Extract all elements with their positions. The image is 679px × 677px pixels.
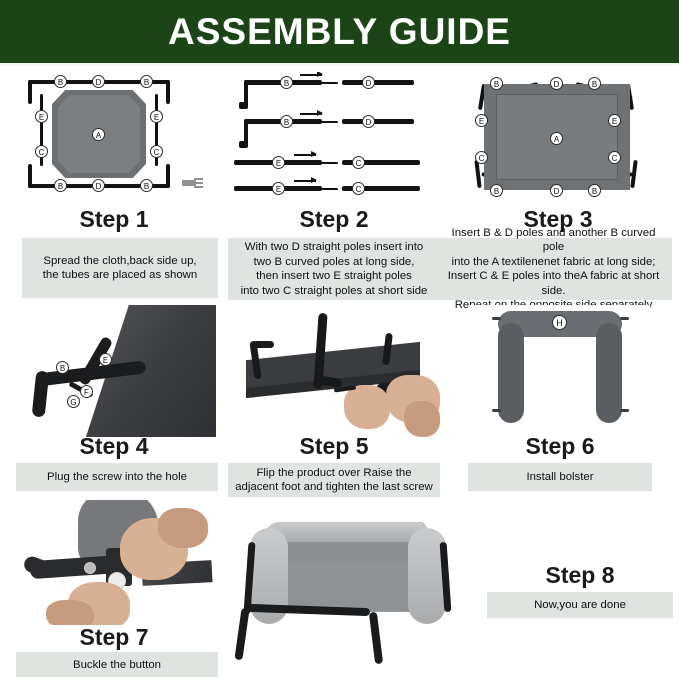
step-2-caption-line-3: then insert two E straight poles <box>241 269 428 284</box>
insert-arrow-1 <box>300 74 322 76</box>
step-5-caption: Flip the product over Raise the adjacent… <box>228 463 440 497</box>
insert-arrow-2 <box>300 113 322 115</box>
strap-top-right <box>620 317 629 320</box>
part-badge-b: B <box>56 361 69 374</box>
part-badge-b-1: B <box>280 76 293 89</box>
step-6-cell: H Step 6 Install bolster <box>450 305 670 490</box>
step-5-cell: Step 5 Flip the product over Raise the a… <box>228 305 440 490</box>
part-badge-e-left: E <box>35 110 48 123</box>
part-badge-b-bottom-right: B <box>588 184 601 197</box>
step-3-caption: Insert B & D poles and another B curved … <box>435 238 672 300</box>
forearm-lower <box>46 600 94 625</box>
part-badge-b-bottom-left: B <box>490 184 503 197</box>
leg-front-left <box>234 608 249 661</box>
step-2-caption: With two D straight poles insert into tw… <box>228 238 440 300</box>
part-badge-c-2: C <box>352 182 365 195</box>
step-2-caption-line-2: two B curved poles at long side, <box>241 255 428 270</box>
strap-top-left <box>492 317 501 320</box>
part-badge-b-top-right: B <box>588 77 601 90</box>
frame-leg <box>32 370 50 417</box>
part-badge-d-bottom: D <box>550 184 563 197</box>
part-badge-c-left: C <box>35 145 48 158</box>
insert-arrow-3 <box>294 154 316 156</box>
step-4-photo: B E F G <box>12 305 216 437</box>
step-3-caption-line-3: Insert C & E poles into theA fabric at s… <box>441 269 666 298</box>
step-5-caption-line-1: Flip the product over Raise the <box>235 466 433 481</box>
step-2-caption-line-4: into two C straight poles at short side <box>241 284 428 299</box>
step-5-label: Step 5 <box>228 433 440 460</box>
step-8-caption: Now,you are done <box>487 592 673 618</box>
part-badge-c-right: C <box>608 151 621 164</box>
part-badge-e-right: E <box>150 110 163 123</box>
tube-bottom-right-stub <box>166 164 170 188</box>
step-7-label: Step 7 <box>8 624 220 651</box>
assembly-guide-page: ASSEMBLY GUIDE B D B E E C <box>0 0 679 677</box>
step-1-cell: B D B E E C C A B D B Step 1 Spread the … <box>8 72 220 297</box>
step-8-label: Step 8 <box>490 562 670 589</box>
header-divider <box>0 63 679 65</box>
step-8-caption-line-1: Now,you are done <box>534 598 626 613</box>
forearm-upper <box>158 508 208 548</box>
part-badge-e-right: E <box>608 114 621 127</box>
step-6-caption: Install bolster <box>468 463 652 491</box>
part-badge-h: H <box>552 315 567 330</box>
step-3-diagram: B D B E E C C A B D B <box>458 72 658 202</box>
tube-bottom-left-stub <box>28 164 32 188</box>
part-badge-c-right: C <box>150 145 163 158</box>
rivet <box>84 562 96 574</box>
bolster-right-arm <box>596 323 622 423</box>
step-1-caption-line-1: Spread the cloth,back side up, <box>43 254 198 269</box>
step-3-cell: B D B E E C C A B D B Step 3 Insert B & … <box>444 72 672 297</box>
part-badge-a-center: A <box>550 132 563 145</box>
part-badge-e-2: E <box>272 182 285 195</box>
step-6-label: Step 6 <box>450 433 670 460</box>
part-badge-d-top: D <box>92 75 105 88</box>
step-5-photo <box>228 305 440 437</box>
step-7-caption: Buckle the button <box>16 652 218 677</box>
part-badge-d-2: D <box>362 115 375 128</box>
leg-front-right <box>369 612 383 665</box>
part-badge-e-left: E <box>475 114 488 127</box>
step-7-photo <box>12 500 216 625</box>
part-badge-b-top-left: B <box>54 75 67 88</box>
tube-top-right-stub <box>166 80 170 104</box>
step-8-photo <box>232 500 492 670</box>
part-badge-c-left: C <box>475 151 488 164</box>
step-6-photo: H <box>470 305 650 437</box>
part-badge-d-top: D <box>550 77 563 90</box>
part-badge-e: E <box>99 353 112 366</box>
bolster-back <box>268 522 428 542</box>
part-badge-f: F <box>80 385 93 398</box>
part-badge-b-top-right: B <box>140 75 153 88</box>
part-badge-d-1: D <box>362 76 375 89</box>
bolster-left-arm <box>498 323 524 423</box>
step-4-label: Step 4 <box>8 433 220 460</box>
step-7-cell: Step 7 Buckle the button <box>8 500 220 672</box>
step-1-label: Step 1 <box>8 206 220 233</box>
part-badge-d-bottom: D <box>92 179 105 192</box>
step-3-caption-line-1: Insert B & D poles and another B curved … <box>441 226 666 255</box>
part-badge-b-bottom-left: B <box>54 179 67 192</box>
step-8-cell: Step 8 Now,you are done <box>232 500 679 672</box>
part-badge-e-1: E <box>272 156 285 169</box>
part-badge-a-center: A <box>92 128 105 141</box>
step-2-diagram: B D B D E C <box>228 72 440 202</box>
tube-top-left-stub <box>28 80 32 104</box>
step-2-caption-line-1: With two D straight poles insert into <box>241 240 428 255</box>
step-4-caption: Plug the screw into the hole <box>16 463 218 491</box>
step-3-caption-line-2: into the A textilenenet fabric at long s… <box>441 255 666 270</box>
hand-left <box>344 385 390 429</box>
leg-bottom-right-up <box>630 160 637 188</box>
forearm-right <box>404 401 440 437</box>
step-2-label: Step 2 <box>228 206 440 233</box>
leg-left-foot <box>252 341 274 348</box>
strap-bottom-right <box>620 409 629 412</box>
part-badge-b-2: B <box>280 115 293 128</box>
part-badge-g: G <box>67 395 80 408</box>
step-4-cell: B E F G Step 4 Plug the screw into the h… <box>8 305 220 490</box>
step-7-caption-line-1: Buckle the button <box>73 658 161 673</box>
page-title: ASSEMBLY GUIDE <box>168 13 511 50</box>
step-1-caption: Spread the cloth,back side up, the tubes… <box>22 238 218 298</box>
insert-arrow-4 <box>294 180 316 182</box>
part-badge-b-top-left: B <box>490 77 503 90</box>
step-1-diagram: B D B E E C C A B D B <box>14 72 220 202</box>
part-badge-c-1: C <box>352 156 365 169</box>
step-1-caption-line-2: the tubes are placed as shown <box>43 268 198 283</box>
screw-icon <box>182 176 204 190</box>
page-header: ASSEMBLY GUIDE <box>0 0 679 63</box>
strap-bottom-left <box>492 409 501 412</box>
step-4-caption-line-1: Plug the screw into the hole <box>47 470 187 485</box>
step-6-caption-line-1: Install bolster <box>526 470 593 485</box>
part-badge-b-bottom-right: B <box>140 179 153 192</box>
step-2-cell: B D B D E C <box>228 72 440 297</box>
step-5-caption-line-2: adjacent foot and tighten the last screw <box>235 480 433 495</box>
